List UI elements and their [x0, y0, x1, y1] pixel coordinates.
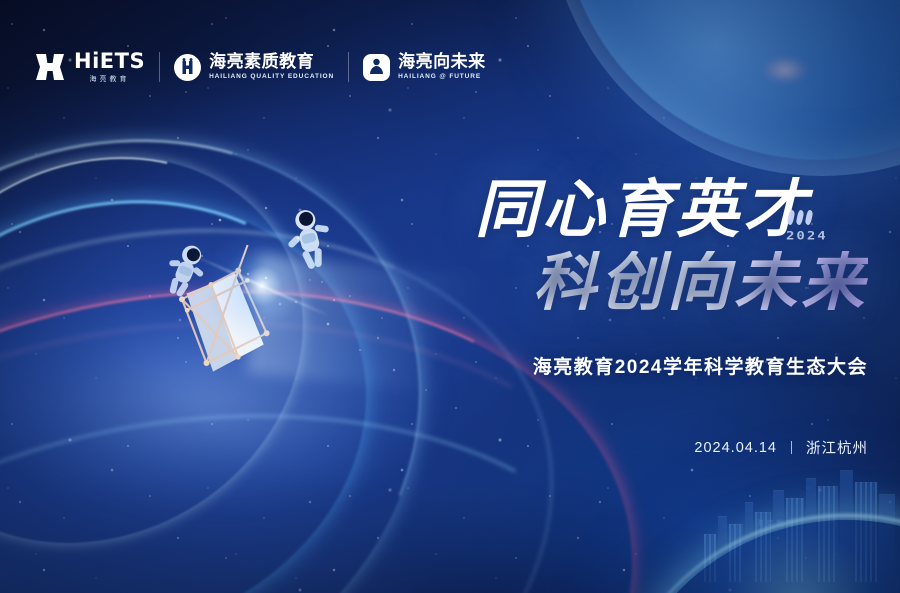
- headline-line-1: 同心育英才: [475, 178, 810, 241]
- badge-ticks-icon: [786, 210, 850, 225]
- nebula-speck-icon: [762, 56, 808, 84]
- subtitle-label: 海亮教育2024学年科学教育生态大会: [533, 352, 868, 379]
- headline-line-2: 科创向未来: [475, 251, 868, 314]
- date-location-separator: [791, 441, 792, 454]
- swirl-trail-g: [0, 360, 672, 593]
- logo-bar: HiETS 海亮教育 海亮素质教育 HAILIANG QUALITY EDUCA…: [34, 44, 486, 90]
- hiets-x-mark-icon: [34, 52, 66, 82]
- hailiang-quality-en-label: HAILIANG QUALITY EDUCATION: [209, 74, 334, 81]
- logo-divider-1: [159, 52, 160, 82]
- event-location-label: 浙江杭州: [806, 437, 868, 458]
- hailiang-h-mark-icon: [174, 54, 201, 81]
- hailiang-quality-cn-label: 海亮素质教育: [209, 53, 334, 70]
- year-badge: 2024: [786, 210, 850, 244]
- badge-year-label: 2024: [786, 229, 850, 242]
- poster-canvas: 海亮教育 HiETS 海亮教育: [0, 0, 900, 593]
- hailiang-person-mark-icon: [363, 54, 390, 81]
- logo-hailiang-quality[interactable]: 海亮素质教育 HAILIANG QUALITY EDUCATION: [174, 53, 334, 81]
- logo-divider-2: [348, 52, 349, 82]
- hailiang-future-cn-label: 海亮向未来: [398, 53, 486, 70]
- logo-hiets[interactable]: HiETS 海亮教育: [34, 51, 145, 83]
- hiets-en-label: HiETS: [74, 51, 145, 72]
- lantern-structure-icon: [150, 240, 300, 390]
- date-location-bar: 2024.04.14 浙江杭州: [694, 437, 868, 458]
- event-date-label: 2024.04.14: [694, 440, 777, 456]
- hiets-cn-label: 海亮教育: [74, 76, 145, 83]
- logo-hailiang-future[interactable]: 海亮向未来 HAILIANG @ FUTURE: [363, 53, 486, 81]
- headline-block: 同心育英才 科创向未来 2024: [475, 178, 868, 314]
- hailiang-future-en-label: HAILIANG @ FUTURE: [398, 74, 486, 81]
- planet-arc-icon: [560, 0, 900, 160]
